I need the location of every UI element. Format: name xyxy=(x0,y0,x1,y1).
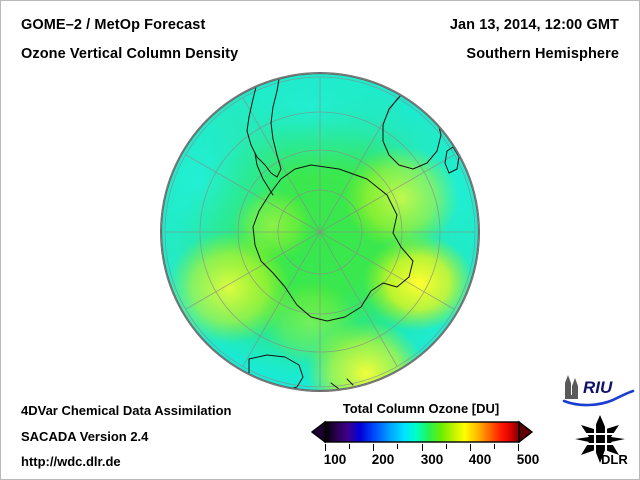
dlr-logo-svg: DLR xyxy=(567,413,633,465)
header-region: Southern Hemisphere xyxy=(466,46,619,62)
riu-wordmark: RIU xyxy=(583,378,613,397)
ozone-field-svg xyxy=(161,73,479,391)
colorbar-label-0: 100 xyxy=(324,452,347,467)
dlr-logo: DLR xyxy=(567,413,633,465)
colorbar-label-1: 200 xyxy=(372,452,395,467)
colorbar-gradient xyxy=(325,422,519,442)
colorbar-svg xyxy=(311,420,533,444)
riu-logo-svg: RIU xyxy=(561,373,635,407)
footer-version: SACADA Version 2.4 xyxy=(21,429,148,444)
riu-towers-icon xyxy=(565,375,578,399)
dlr-wordmark: DLR xyxy=(601,452,628,465)
footer-method: 4DVar Chemical Data Assimilation xyxy=(21,403,232,418)
riu-logo: RIU xyxy=(561,373,635,407)
colorbar-ticks xyxy=(311,444,533,452)
ozone-map-globe xyxy=(161,73,479,391)
colorbar-label-3: 400 xyxy=(469,452,492,467)
globe-disc xyxy=(161,73,479,391)
colorbar xyxy=(311,420,533,444)
colorbar-low-arrow xyxy=(312,422,325,442)
colorbar-tick-labels: 100 200 300 400 500 xyxy=(297,452,547,472)
ozone-field-layer xyxy=(161,73,479,391)
colorbar-high-arrow xyxy=(519,422,532,442)
header-instrument-line: GOME–2 / MetOp Forecast xyxy=(21,17,205,33)
colorbar-label-4: 500 xyxy=(517,452,540,467)
header-product-line: Ozone Vertical Column Density xyxy=(21,46,238,62)
colorbar-label-2: 300 xyxy=(421,452,444,467)
ozone-forecast-figure: GOME–2 / MetOp Forecast Ozone Vertical C… xyxy=(0,0,640,480)
footer-url[interactable]: http://wdc.dlr.de xyxy=(21,454,121,469)
colorbar-title: Total Column Ozone [DU] xyxy=(311,401,531,416)
header-datetime: Jan 13, 2014, 12:00 GMT xyxy=(450,17,619,33)
